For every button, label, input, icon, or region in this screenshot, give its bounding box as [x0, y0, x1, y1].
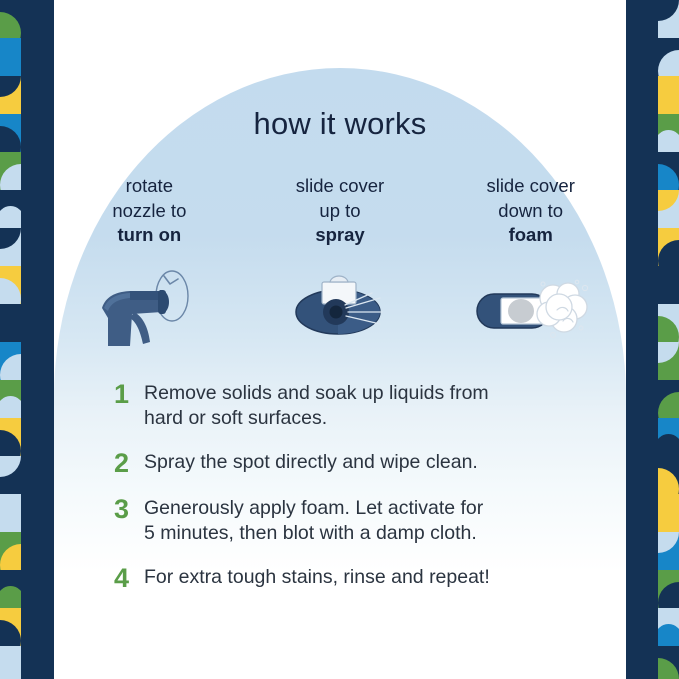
steps-icon-row: rotate nozzle to turn on — [54, 174, 626, 350]
decorative-pattern-strip-left — [0, 0, 21, 679]
step-text: Spray the spot directly and wipe clean. — [144, 449, 478, 475]
column-rotate-nozzle: rotate nozzle to turn on — [54, 174, 245, 350]
step-number: 2 — [114, 449, 144, 477]
instruction-steps-list: 1 Remove solids and soak up liquids from… — [114, 380, 614, 610]
list-item: 4 For extra tough stains, rinse and repe… — [114, 564, 614, 592]
frame-edge-right — [626, 0, 658, 679]
caption-line2: down to — [498, 200, 563, 221]
list-item: 2 Spray the spot directly and wipe clean… — [114, 449, 614, 477]
caption-emphasis: spray — [315, 224, 364, 245]
caption-line2: up to — [319, 200, 360, 221]
column-caption-1: rotate nozzle to turn on — [54, 174, 245, 248]
step-number: 4 — [114, 564, 144, 592]
pattern-tile — [0, 646, 21, 679]
step-text: For extra tough stains, rinse and repeat… — [144, 564, 490, 590]
infographic-root: how it works rotate nozzle to turn on — [0, 0, 679, 679]
caption-line1: slide cover — [296, 175, 384, 196]
decorative-pattern-strip-right — [658, 0, 679, 679]
caption-line1: rotate — [126, 175, 173, 196]
frame-edge-left — [21, 0, 54, 679]
page-title: how it works — [54, 106, 626, 142]
caption-emphasis: turn on — [117, 224, 181, 245]
column-caption-2: slide cover up to spray — [245, 174, 436, 248]
pattern-tile — [658, 646, 679, 679]
step-number: 3 — [114, 495, 144, 523]
step-text: Remove solids and soak up liquids from h… — [144, 380, 489, 431]
list-item: 3 Generously apply foam. Let activate fo… — [114, 495, 614, 546]
list-item: 1 Remove solids and soak up liquids from… — [114, 380, 614, 431]
column-slide-cover-foam: slide cover down to foam — [435, 174, 626, 350]
step-text: Generously apply foam. Let activate for … — [144, 495, 483, 546]
spray-nozzle-top-spray-icon — [245, 264, 436, 350]
content-area: how it works rotate nozzle to turn on — [54, 0, 626, 679]
caption-line2: nozzle to — [112, 200, 186, 221]
column-caption-3: slide cover down to foam — [435, 174, 626, 248]
caption-line1: slide cover — [486, 175, 574, 196]
caption-emphasis: foam — [509, 224, 553, 245]
spray-trigger-rotate-icon — [54, 264, 245, 350]
column-slide-cover-spray: slide cover up to spray — [245, 174, 436, 350]
spray-nozzle-top-foam-icon — [435, 264, 626, 350]
step-number: 1 — [114, 380, 144, 408]
